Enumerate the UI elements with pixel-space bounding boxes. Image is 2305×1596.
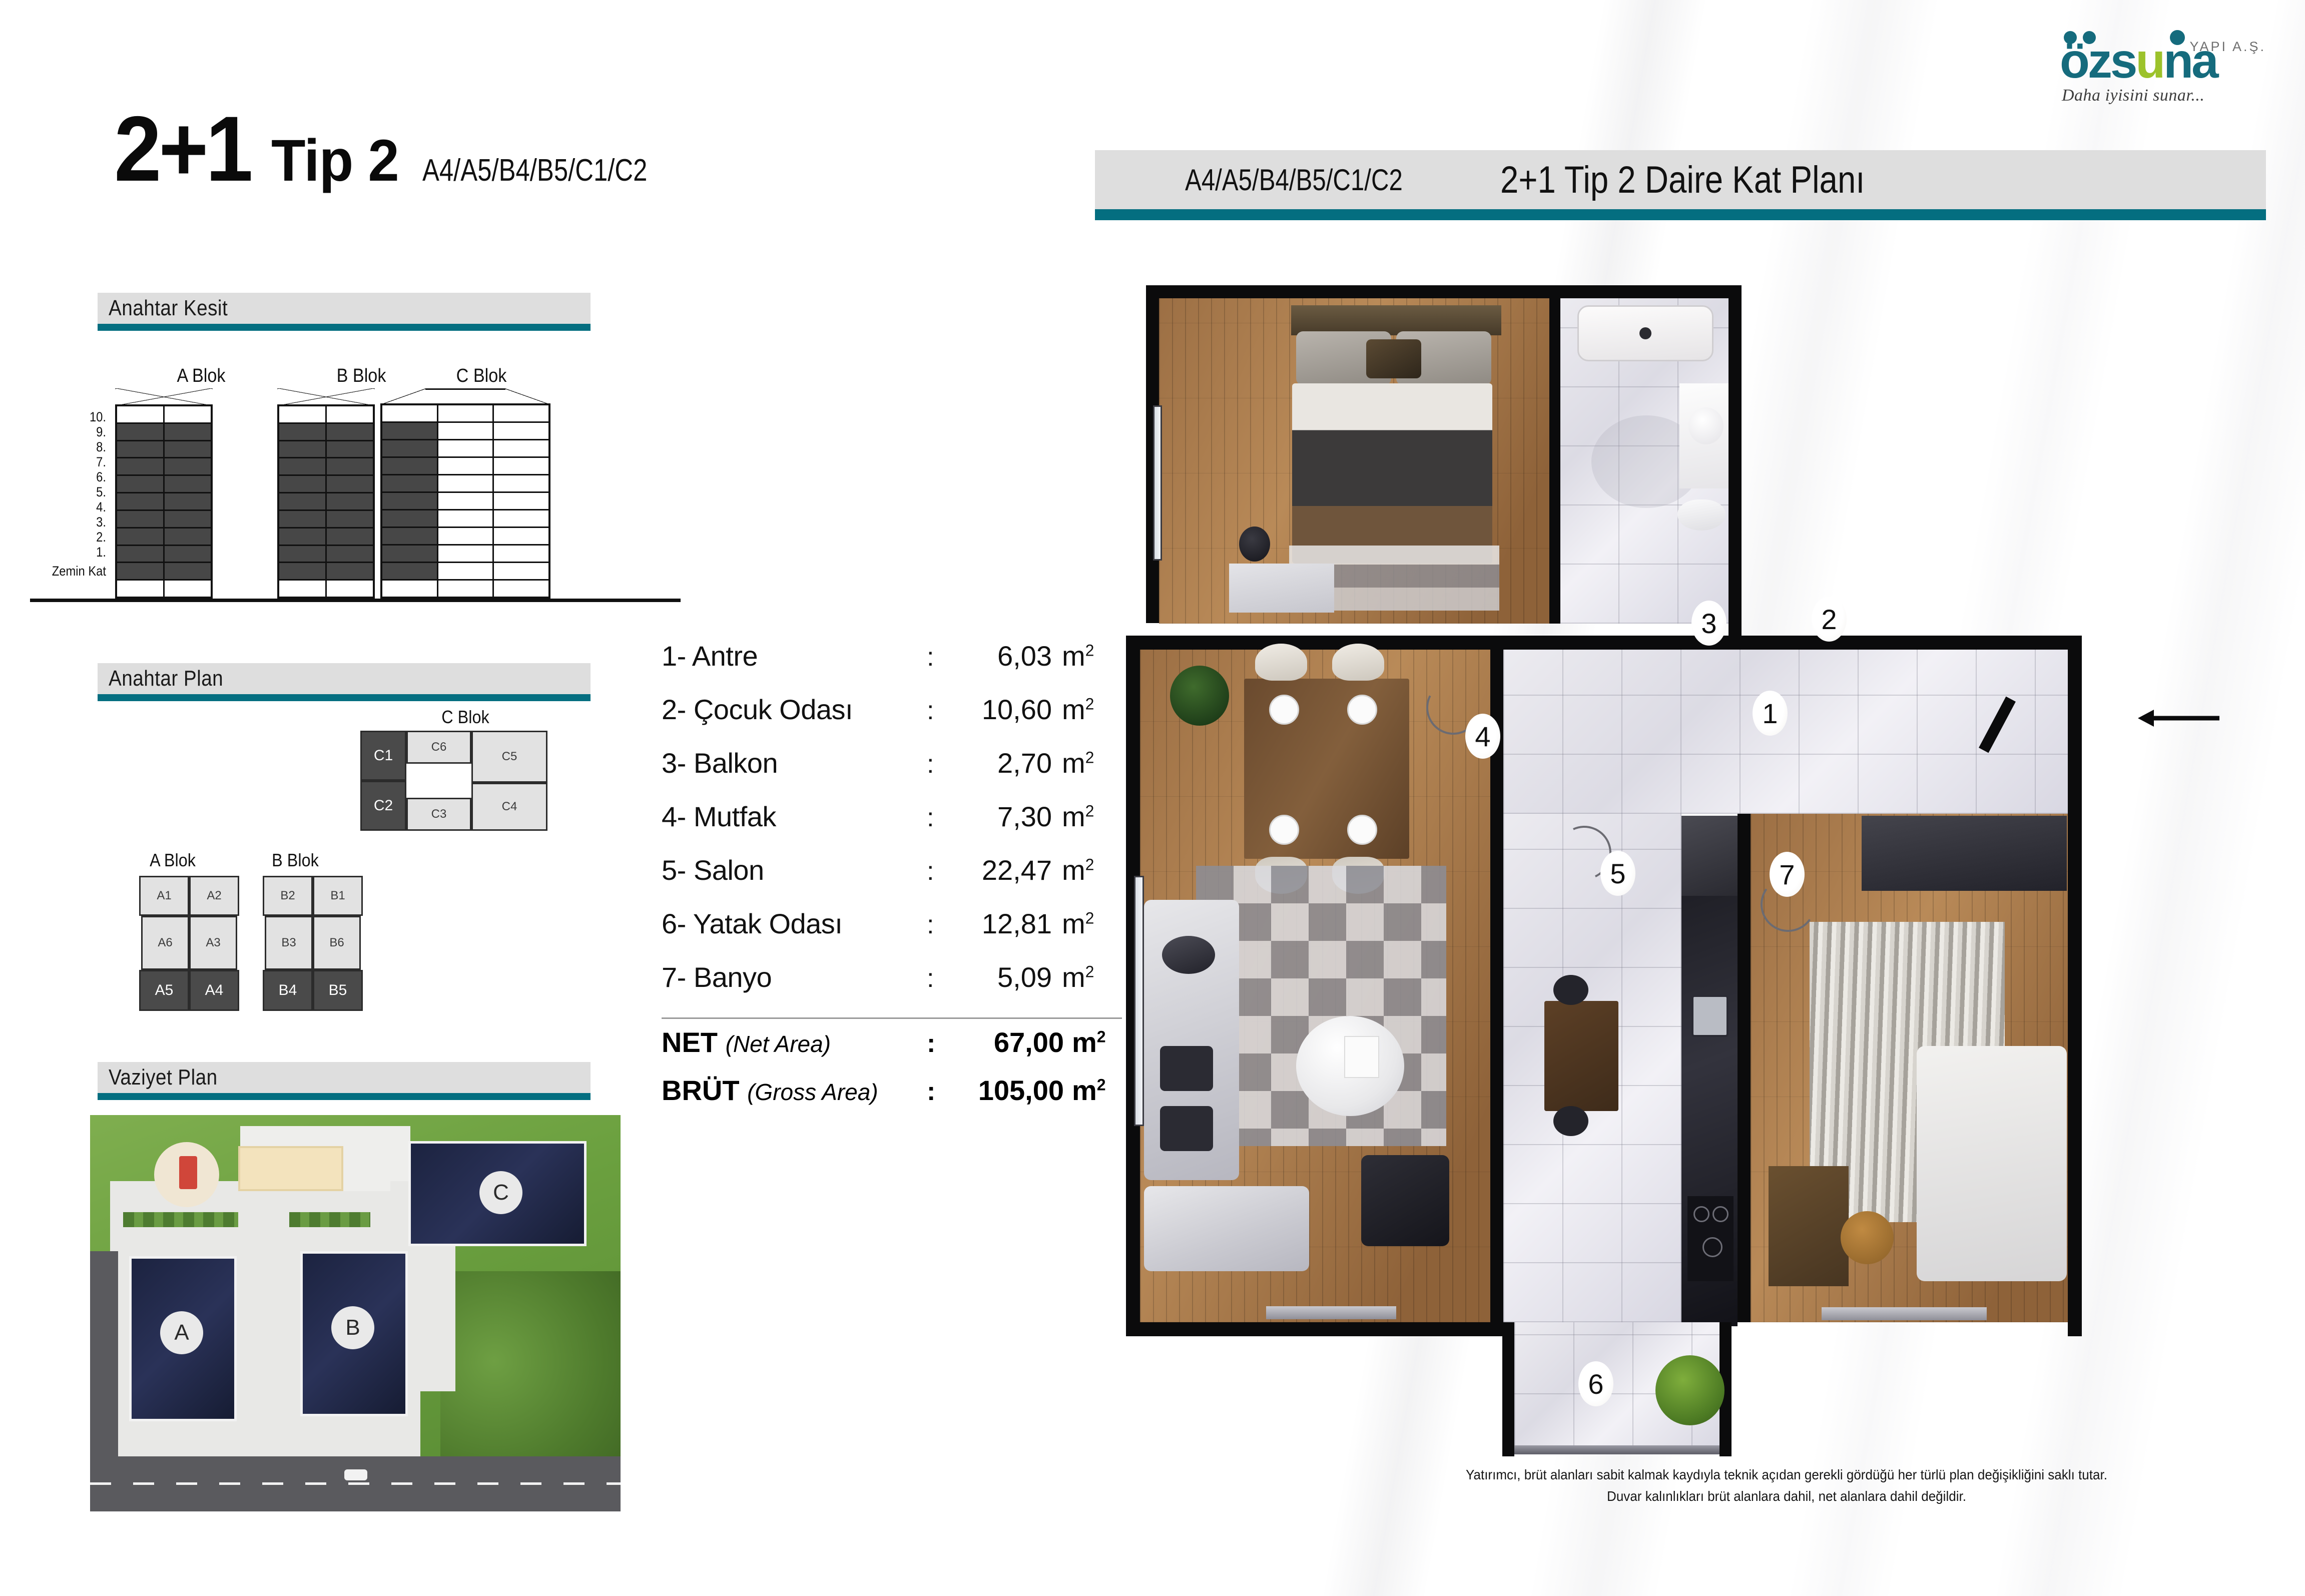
kesit-floor-label-5: 5. bbox=[49, 484, 106, 500]
plan-dining-chair-2 bbox=[1332, 644, 1384, 681]
kesit-floor-label-2: 2. bbox=[49, 529, 106, 545]
logo-wordmark-u: u bbox=[2135, 33, 2163, 88]
anahtar-plan-unit-c5[interactable]: C5 bbox=[471, 731, 547, 783]
kesit-floor-row bbox=[382, 510, 548, 528]
gross-area-row: BRÜT (Gross Area) : 105,00 m2 bbox=[662, 1074, 1127, 1122]
section-header-vaziyet-plan: Vaziyet Plan bbox=[98, 1062, 591, 1100]
room-area-value: 22,47 bbox=[947, 854, 1062, 886]
room-number: 1- bbox=[662, 640, 686, 672]
anahtar-plan-diagram: C Blok C1 C6 C5 C2 C3 C4 A Blok A1 A2 A6… bbox=[90, 706, 631, 1031]
kesit-floor-row bbox=[117, 563, 211, 581]
kesit-block-label-b: B Blok bbox=[312, 365, 411, 387]
anahtar-plan-a-block: A1 A2 A6 A3 A5 A4 bbox=[139, 876, 244, 1011]
room-list-item: 6- Yatak Odası : 12,81 m2 bbox=[662, 907, 1127, 961]
plan-dining-plate-1 bbox=[1269, 695, 1299, 725]
room-list-item: 2- Çocuk Odası : 10,60 m2 bbox=[662, 693, 1127, 747]
plan-kitchen-upper-unit bbox=[1681, 816, 1738, 896]
plan-bed-accent-pillow bbox=[1366, 339, 1421, 378]
section-title-anahtar-kesit: Anahtar Kesit bbox=[109, 296, 228, 321]
net-area-label: NET bbox=[662, 1026, 718, 1058]
site-road-left bbox=[90, 1251, 118, 1461]
site-pool bbox=[238, 1146, 343, 1191]
kesit-floor-row bbox=[279, 546, 373, 564]
anahtar-plan-unit-a2[interactable]: A2 bbox=[189, 876, 239, 916]
section-header-bar: Anahtar Plan bbox=[98, 663, 591, 694]
plan-bedroom-decor-ball bbox=[1239, 526, 1270, 562]
company-logo: özsuna YAPI A.Ş. Daha iyisini sunar... bbox=[2047, 20, 2267, 108]
site-building-c-label: C bbox=[479, 1171, 522, 1214]
room-number: 4- bbox=[662, 801, 686, 832]
kesit-floor-row bbox=[279, 424, 373, 441]
room-area-value: 7,30 bbox=[947, 800, 1062, 833]
plan-hob-burner-1 bbox=[1693, 1206, 1709, 1222]
footer-disclaimer: Yatırımcı, brüt alanları sabit kalmak ka… bbox=[1376, 1464, 2197, 1507]
room-name: Banyo bbox=[694, 961, 772, 993]
plan-title-banner-bar: A4/A5/B4/B5/C1/C2 2+1 Tip 2 Daire Kat Pl… bbox=[1095, 150, 2266, 209]
net-area-row: NET (Net Area) : 67,00 m2 bbox=[662, 1026, 1127, 1074]
plan-kitchen-stool-1 bbox=[1553, 975, 1588, 1005]
plan-bedroom2-stool bbox=[1841, 1211, 1894, 1264]
footer-line-1: Yatırımcı, brüt alanları sabit kalmak ka… bbox=[1405, 1464, 2168, 1485]
site-hedge-row-left bbox=[123, 1212, 238, 1227]
anahtar-plan-b-block: B2 B1 B3 B6 B4 B5 bbox=[263, 876, 368, 1011]
plan-bathtub-drain-icon bbox=[1639, 327, 1651, 339]
kesit-floor-row bbox=[117, 493, 211, 511]
kesit-floor-label-8: 8. bbox=[49, 439, 106, 455]
kesit-floor-label-7: 7. bbox=[49, 454, 106, 470]
plan-bed bbox=[1292, 383, 1492, 564]
anahtar-plan-unit-b1[interactable]: B1 bbox=[313, 876, 363, 916]
kesit-floor-label-10: 10. bbox=[49, 409, 106, 425]
kesit-floor-label-3: 3. bbox=[49, 514, 106, 530]
kesit-floor-label-6: 6. bbox=[49, 469, 106, 485]
kesit-floor-row bbox=[117, 406, 211, 424]
room-area-value: 5,09 bbox=[947, 961, 1062, 993]
plan-wall-main-right bbox=[2068, 636, 2082, 1336]
kesit-floor-row bbox=[117, 581, 211, 597]
site-building-a-label: A bbox=[160, 1311, 203, 1354]
plan-marker-4: 4 bbox=[1465, 714, 1500, 759]
kesit-floor-row bbox=[117, 458, 211, 476]
kesit-floor-row bbox=[279, 476, 373, 493]
kesit-tower-b-roof bbox=[277, 388, 375, 405]
anahtar-plan-unit-b3[interactable]: B3 bbox=[265, 916, 313, 970]
plan-sofa-cushion-1 bbox=[1162, 936, 1215, 974]
plan-bedroom2-bed bbox=[1917, 1046, 2067, 1281]
room-list-item: 4- Mutfak : 7,30 m2 bbox=[662, 800, 1127, 854]
room-area-value: 6,03 bbox=[947, 640, 1062, 672]
plan-sofa-cushion-3 bbox=[1160, 1106, 1213, 1151]
anahtar-plan-unit-c2[interactable]: C2 bbox=[360, 781, 406, 831]
room-list-item: 7- Banyo : 5,09 m2 bbox=[662, 961, 1127, 1014]
plan-dining-plate-4 bbox=[1347, 815, 1377, 845]
plan-title-banner: A4/A5/B4/B5/C1/C2 2+1 Tip 2 Daire Kat Pl… bbox=[1095, 150, 2266, 220]
plan-bedroom2-desk bbox=[1769, 1166, 1849, 1286]
plan-salon-window-left bbox=[1134, 876, 1144, 1126]
room-list-item: 5- Salon : 22,47 m2 bbox=[662, 854, 1127, 907]
room-area-unit: m2 bbox=[1062, 961, 1094, 993]
kesit-block-label-a: A Blok bbox=[152, 365, 251, 387]
kesit-floor-label-1: 1. bbox=[49, 545, 106, 560]
plan-banner-title: 2+1 Tip 2 Daire Kat Planı bbox=[1500, 158, 1865, 202]
plan-dining-plate-2 bbox=[1347, 695, 1377, 725]
room-list-item: 1- Antre : 6,03 m2 bbox=[662, 640, 1127, 693]
plan-kitchen-table bbox=[1544, 1001, 1618, 1111]
room-area-value: 2,70 bbox=[947, 747, 1062, 779]
plan-bed-headboard bbox=[1291, 305, 1501, 335]
plan-sofa-cushion-2 bbox=[1160, 1046, 1213, 1091]
kesit-floor-row bbox=[279, 581, 373, 597]
plan-banner-codes: A4/A5/B4/B5/C1/C2 bbox=[1185, 163, 1403, 197]
kesit-floor-row bbox=[382, 528, 548, 546]
anahtar-kesit-diagram: A Blok B Blok C Blok 10. 9. 8. 7. 6. 5. … bbox=[41, 365, 707, 606]
kesit-block-label-c: C Blok bbox=[432, 365, 531, 387]
net-area-unit: m2 bbox=[1072, 1026, 1106, 1058]
room-name: Mutfak bbox=[694, 801, 776, 832]
kesit-floor-label-9: 9. bbox=[49, 424, 106, 440]
room-number: 3- bbox=[662, 747, 686, 779]
kesit-tower-c bbox=[380, 388, 550, 599]
kesit-floor-row bbox=[279, 563, 373, 581]
kesit-floor-row bbox=[382, 475, 548, 493]
kesit-floor-row bbox=[382, 440, 548, 458]
plan-kitchen-hob bbox=[1687, 1196, 1734, 1281]
plan-hob-burner-3 bbox=[1702, 1237, 1722, 1257]
plan-wall-bath-divider bbox=[1549, 298, 1560, 624]
section-header-anahtar-plan: Anahtar Plan bbox=[98, 663, 591, 701]
kesit-floor-row bbox=[279, 528, 373, 546]
section-header-rule bbox=[98, 694, 591, 701]
apartment-floor-plan-render: 3 2 4 1 bbox=[1146, 285, 2097, 1426]
plan-banner-rule bbox=[1095, 209, 2266, 220]
kesit-floor-row bbox=[279, 511, 373, 528]
anahtar-plan-unit-a6[interactable]: A6 bbox=[141, 916, 189, 970]
anahtar-plan-unit-b4[interactable]: B4 bbox=[263, 970, 313, 1011]
room-area-value: 10,60 bbox=[947, 693, 1062, 726]
plan-salon-armchair bbox=[1361, 1155, 1449, 1246]
room-area-value: 12,81 bbox=[947, 907, 1062, 940]
kesit-floor-row bbox=[382, 458, 548, 475]
room-area-unit: m2 bbox=[1062, 800, 1094, 833]
room-colon: : bbox=[927, 803, 947, 833]
plan-coffee-table-book bbox=[1344, 1036, 1379, 1078]
apartment-codes-heading: A4/A5/B4/B5/C1/C2 bbox=[422, 153, 647, 188]
footer-line-2: Duvar kalınlıkları brüt alanlara dahil, … bbox=[1405, 1485, 2168, 1507]
plan-marker-6: 6 bbox=[1578, 1361, 1613, 1406]
room-number: 7- bbox=[662, 961, 686, 993]
plan-marker-7: 7 bbox=[1770, 852, 1805, 897]
room-area-unit: m2 bbox=[1062, 693, 1094, 726]
plan-kitchen-stool-2 bbox=[1553, 1106, 1588, 1136]
kesit-floor-label-4: 4. bbox=[49, 499, 106, 515]
room-colon: : bbox=[927, 963, 947, 993]
room-colon: : bbox=[927, 696, 947, 726]
kesit-floor-row bbox=[117, 546, 211, 564]
room-name: Antre bbox=[692, 640, 758, 672]
kesit-tower-b bbox=[277, 388, 375, 599]
room-name: Balkon bbox=[694, 747, 778, 779]
kesit-floor-row bbox=[279, 441, 373, 459]
kesit-tower-c-body bbox=[380, 403, 550, 599]
kesit-tower-a-body bbox=[115, 404, 213, 599]
apartment-type-heading: 2+1 bbox=[114, 103, 250, 196]
page-title-block: 2+1Tip 2A4/A5/B4/B5/C1/C2 bbox=[114, 103, 697, 196]
section-header-bar: Anahtar Kesit bbox=[98, 293, 591, 324]
anahtar-plan-unit-a4[interactable]: A4 bbox=[189, 970, 239, 1011]
plan-marker-2: 2 bbox=[1812, 597, 1847, 642]
kesit-floor-label-ground: Zemin Kat bbox=[36, 564, 106, 579]
room-list-item: 3- Balkon : 2,70 m2 bbox=[662, 747, 1127, 800]
room-colon: : bbox=[927, 749, 947, 779]
section-title-anahtar-plan: Anahtar Plan bbox=[109, 666, 223, 691]
section-title-vaziyet-plan: Vaziyet Plan bbox=[109, 1065, 218, 1090]
section-header-rule bbox=[98, 324, 591, 331]
room-area-unit: m2 bbox=[1062, 747, 1094, 779]
anahtar-plan-unit-a3[interactable]: A3 bbox=[189, 916, 237, 970]
plan-dining-chair-1 bbox=[1255, 644, 1307, 681]
anahtar-plan-label-a: A Blok bbox=[123, 850, 222, 871]
kesit-tower-c-roof bbox=[380, 388, 550, 404]
room-colon: : bbox=[927, 856, 947, 886]
plan-marker-1: 1 bbox=[1753, 691, 1788, 736]
plan-balcony-rail-bottom bbox=[1514, 1445, 1719, 1454]
anahtar-plan-unit-c1[interactable]: C1 bbox=[360, 731, 406, 781]
room-number: 2- bbox=[662, 694, 686, 725]
logo-wordmark-pre: özs bbox=[2060, 33, 2135, 88]
plan-bedroom-window bbox=[1153, 405, 1162, 561]
site-hedge-row-right bbox=[289, 1212, 370, 1227]
kesit-floor-row bbox=[382, 563, 548, 581]
plan-wall-bedroom-left bbox=[1738, 814, 1751, 1322]
plan-room-antre-floor bbox=[1503, 650, 2068, 814]
room-name: Çocuk Odası bbox=[694, 694, 853, 725]
floor-plan-page: 2+1Tip 2A4/A5/B4/B5/C1/C2 özsuna YAPI A.… bbox=[0, 0, 2305, 1596]
kesit-ground-line bbox=[30, 599, 681, 602]
anahtar-plan-label-b: B Blok bbox=[246, 850, 345, 871]
net-area-sublabel: (Net Area) bbox=[726, 1031, 831, 1057]
logo-suffix: YAPI A.Ş. bbox=[2189, 39, 2266, 55]
room-colon: : bbox=[927, 910, 947, 940]
kesit-floor-row bbox=[382, 581, 548, 597]
anahtar-plan-unit-c6[interactable]: C6 bbox=[406, 731, 471, 764]
section-header-bar: Vaziyet Plan bbox=[98, 1062, 591, 1093]
gross-area-unit: m2 bbox=[1072, 1074, 1106, 1107]
net-area-value: 67,00 bbox=[947, 1026, 1072, 1058]
site-playground-equipment-icon bbox=[179, 1156, 197, 1189]
room-area-list: 1- Antre : 6,03 m2 2- Çocuk Odası : 10,6… bbox=[662, 640, 1127, 1122]
room-number: 5- bbox=[662, 854, 686, 886]
kesit-tower-a bbox=[115, 388, 213, 599]
kesit-floor-row bbox=[382, 493, 548, 510]
gross-area-label: BRÜT bbox=[662, 1075, 740, 1106]
kesit-floor-row bbox=[279, 493, 373, 511]
plan-wall-top-right bbox=[1728, 285, 1742, 636]
logo-tagline: Daha iyisini sunar... bbox=[2062, 86, 2204, 105]
plan-salon-sofa-bottom bbox=[1144, 1186, 1309, 1271]
plan-wall-top-outer bbox=[1146, 285, 1742, 298]
kesit-floor-row bbox=[117, 441, 211, 459]
site-building-b-label: B bbox=[331, 1306, 374, 1349]
plan-bath-toilet bbox=[1677, 499, 1725, 530]
kesit-floor-row bbox=[382, 405, 548, 423]
plan-bedroom-bench bbox=[1229, 564, 1334, 613]
anahtar-plan-label-c: C Blok bbox=[416, 707, 515, 728]
anahtar-plan-unit-b5[interactable]: B5 bbox=[313, 970, 363, 1011]
room-list-divider bbox=[662, 1017, 1122, 1019]
anahtar-plan-unit-a5[interactable]: A5 bbox=[139, 970, 189, 1011]
room-area-unit: m2 bbox=[1062, 907, 1094, 940]
section-header-anahtar-kesit: Anahtar Kesit bbox=[98, 293, 591, 331]
anahtar-plan-unit-a1[interactable]: A1 bbox=[139, 876, 189, 916]
room-colon: : bbox=[927, 642, 947, 672]
kesit-tower-a-roof bbox=[115, 388, 213, 405]
plan-balcony-plant bbox=[1655, 1355, 1724, 1425]
room-area-unit: m2 bbox=[1062, 640, 1094, 672]
kesit-floor-row bbox=[117, 528, 211, 546]
gross-area-sublabel: (Gross Area) bbox=[747, 1079, 878, 1105]
plan-salon-plant bbox=[1170, 666, 1229, 726]
kesit-floor-row bbox=[382, 423, 548, 440]
kesit-floor-row bbox=[117, 511, 211, 528]
section-header-rule bbox=[98, 1093, 591, 1100]
plan-marker-3: 3 bbox=[1691, 601, 1726, 646]
anahtar-plan-unit-b6[interactable]: B6 bbox=[313, 916, 361, 970]
plan-dining-plate-3 bbox=[1269, 815, 1299, 845]
kesit-floor-row bbox=[279, 458, 373, 476]
plan-kitchen-sink bbox=[1691, 995, 1728, 1037]
kesit-floor-row bbox=[279, 406, 373, 424]
site-road-marking bbox=[90, 1482, 621, 1485]
entrance-arrow-icon bbox=[2137, 701, 2222, 736]
kesit-floor-row bbox=[382, 546, 548, 563]
plan-bedroom2-wardrobe bbox=[1862, 816, 2067, 891]
anahtar-plan-unit-b2[interactable]: B2 bbox=[263, 876, 313, 916]
gross-area-colon: : bbox=[927, 1077, 947, 1107]
plan-salon-balcony-sill bbox=[1266, 1306, 1396, 1319]
apartment-tip-heading: Tip 2 bbox=[271, 127, 399, 195]
site-car-icon bbox=[344, 1469, 367, 1480]
kesit-floor-row bbox=[117, 476, 211, 493]
kesit-tower-b-body bbox=[277, 404, 375, 599]
anahtar-plan-unit-c3[interactable]: C3 bbox=[406, 798, 471, 831]
anahtar-plan-unit-c4[interactable]: C4 bbox=[471, 783, 547, 831]
room-name: Salon bbox=[694, 854, 764, 886]
plan-bedroom2-balcony-sill bbox=[1822, 1307, 1987, 1320]
room-area-unit: m2 bbox=[1062, 854, 1094, 886]
vaziyet-plan-sitemap: A B C bbox=[90, 1106, 621, 1536]
plan-hob-burner-2 bbox=[1712, 1206, 1728, 1222]
kesit-floor-row bbox=[117, 424, 211, 441]
anahtar-plan-c-block: C1 C6 C5 C2 C3 C4 bbox=[360, 731, 570, 836]
plan-marker-5: 5 bbox=[1600, 851, 1635, 896]
plan-wall-balcony-left bbox=[1502, 1322, 1514, 1456]
room-name: Yatak Odası bbox=[693, 908, 843, 939]
gross-area-value: 105,00 bbox=[947, 1074, 1072, 1107]
plan-bath-basin bbox=[1688, 407, 1723, 444]
net-area-colon: : bbox=[927, 1028, 947, 1058]
room-number: 6- bbox=[662, 908, 686, 939]
